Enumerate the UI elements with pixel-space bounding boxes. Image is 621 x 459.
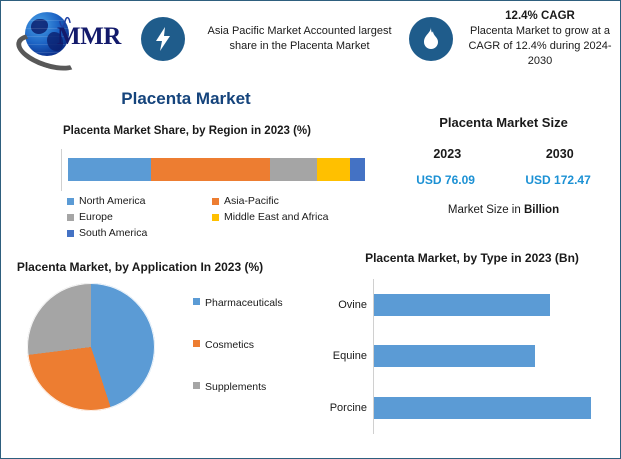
market-size-panel: Placenta Market Size 2023 2030 USD 76.09… bbox=[391, 115, 616, 216]
infographic-page: ∿ MMR Asia Pacific Market Accounted larg… bbox=[0, 0, 621, 459]
legend-label: Cosmetics bbox=[205, 337, 254, 353]
legend-item: South America bbox=[67, 225, 212, 241]
application-chart-legend: PharmaceuticalsCosmeticsSupplements bbox=[193, 295, 283, 421]
legend-label: Middle East and Africa bbox=[224, 209, 328, 225]
type-bar-label: Porcine bbox=[330, 402, 374, 414]
legend-label: Asia-Pacific bbox=[224, 193, 279, 209]
application-chart-title: Placenta Market, by Application In 2023 … bbox=[15, 259, 265, 275]
legend-item: Pharmaceuticals bbox=[193, 295, 283, 337]
legend-item: Europe bbox=[67, 209, 212, 225]
region-segment-south-america bbox=[350, 158, 365, 181]
legend-label: North America bbox=[79, 193, 146, 209]
market-size-values: USD 76.09 USD 172.47 bbox=[391, 173, 616, 187]
application-share-chart: Placenta Market, by Application In 2023 … bbox=[5, 259, 315, 421]
type-bar-row: Ovine bbox=[374, 279, 618, 331]
market-size-footnote: Market Size in Billion bbox=[391, 204, 616, 216]
type-bar-equine bbox=[374, 345, 535, 367]
region-chart-plot: 2023 bbox=[61, 149, 365, 191]
region-chart-legend: North AmericaAsia-PacificEuropeMiddle Ea… bbox=[67, 193, 357, 241]
region-segment-europe bbox=[270, 158, 318, 181]
region-segment-north-america bbox=[68, 158, 151, 181]
legend-swatch-icon bbox=[212, 214, 219, 221]
market-size-year-2030: 2030 bbox=[546, 147, 574, 161]
application-pie bbox=[27, 283, 155, 411]
legend-item: Cosmetics bbox=[193, 337, 283, 379]
type-bar-ovine bbox=[374, 294, 550, 316]
legend-swatch-icon bbox=[193, 382, 200, 389]
lightning-bolt-icon bbox=[141, 17, 185, 61]
type-bar-porcine bbox=[374, 397, 591, 419]
type-chart-title: Placenta Market, by Type in 2023 (Bn) bbox=[326, 251, 618, 265]
legend-swatch-icon bbox=[67, 198, 74, 205]
legend-label: Europe bbox=[79, 209, 113, 225]
legend-swatch-icon bbox=[67, 214, 74, 221]
legend-item: Middle East and Africa bbox=[212, 209, 357, 225]
header-fact-region-text: Asia Pacific Market Accounted largest sh… bbox=[194, 24, 409, 54]
header-fact-cagr-text: 12.4% CAGR Placenta Market to grow at a … bbox=[462, 9, 621, 69]
logo-text: MMR bbox=[57, 23, 121, 51]
legend-label: Pharmaceuticals bbox=[205, 295, 283, 311]
flame-icon bbox=[409, 17, 453, 61]
header-fact-cagr-body: Placenta Market to grow at a CAGR of 12.… bbox=[468, 25, 611, 67]
legend-swatch-icon bbox=[212, 198, 219, 205]
legend-swatch-icon bbox=[193, 340, 200, 347]
legend-item: North America bbox=[67, 193, 212, 209]
legend-swatch-icon bbox=[193, 298, 200, 305]
region-segment-middle-east-and-africa bbox=[317, 158, 350, 181]
market-size-value-2030: USD 172.47 bbox=[525, 173, 590, 187]
legend-item: Asia-Pacific bbox=[212, 193, 357, 209]
market-size-footnote-unit: Billion bbox=[524, 204, 559, 216]
brand-logo: ∿ MMR bbox=[1, 1, 141, 77]
type-bar-label: Equine bbox=[333, 350, 374, 362]
market-size-years: 2023 2030 bbox=[391, 147, 616, 161]
market-size-title: Placenta Market Size bbox=[391, 115, 616, 130]
region-segment-asia-pacific bbox=[151, 158, 270, 181]
region-stacked-bar bbox=[68, 158, 365, 181]
legend-label: Supplements bbox=[205, 379, 266, 395]
type-bar-row: Porcine bbox=[374, 382, 618, 434]
page-title: Placenta Market bbox=[1, 89, 371, 109]
market-size-year-2023: 2023 bbox=[433, 147, 461, 161]
type-chart-plot: OvineEquinePorcine bbox=[373, 279, 618, 434]
legend-swatch-icon bbox=[67, 230, 74, 237]
region-chart-title: Placenta Market Share, by Region in 2023… bbox=[9, 125, 365, 137]
header-fact-cagr: 12.4% CAGR Placenta Market to grow at a … bbox=[409, 1, 621, 77]
market-size-footnote-prefix: Market Size in bbox=[448, 204, 524, 216]
legend-item: Supplements bbox=[193, 379, 283, 421]
legend-label: South America bbox=[79, 225, 147, 241]
region-share-chart: Placenta Market Share, by Region in 2023… bbox=[9, 125, 365, 241]
type-bar-row: Equine bbox=[374, 331, 618, 383]
type-bar-label: Ovine bbox=[338, 299, 374, 311]
header-fact-region: Asia Pacific Market Accounted largest sh… bbox=[141, 1, 409, 77]
header-fact-cagr-heading: 12.4% CAGR bbox=[462, 9, 618, 24]
header: ∿ MMR Asia Pacific Market Accounted larg… bbox=[1, 1, 621, 77]
market-size-value-2023: USD 76.09 bbox=[416, 173, 475, 187]
type-chart: Placenta Market, by Type in 2023 (Bn) Ov… bbox=[326, 251, 618, 434]
